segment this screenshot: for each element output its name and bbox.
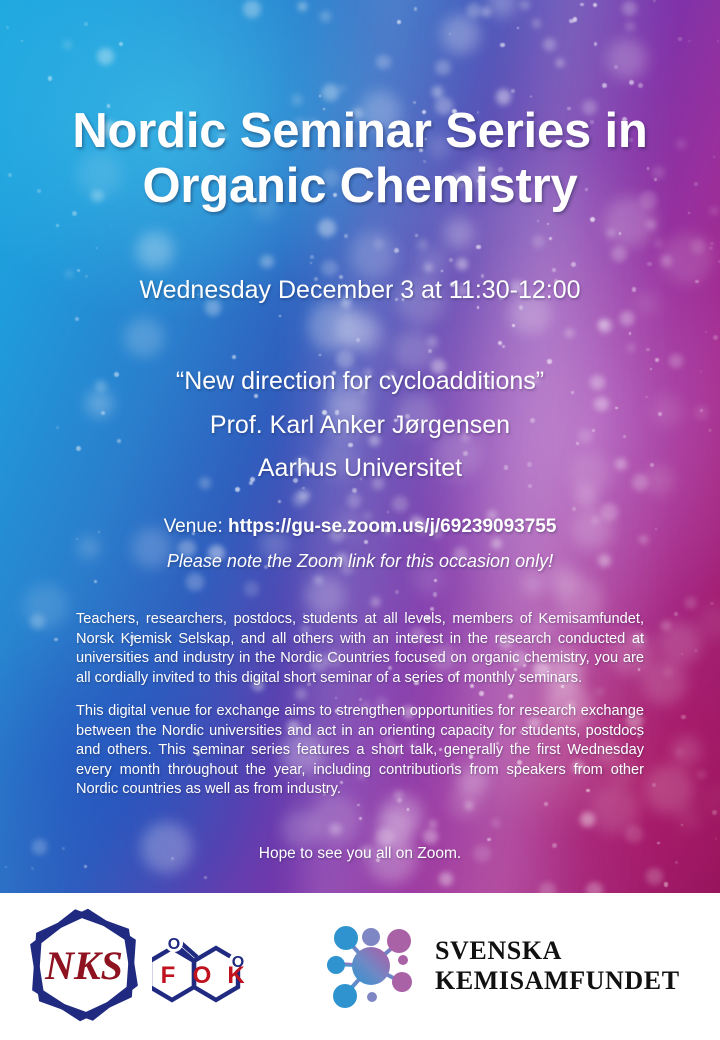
svenska-kemisamfundet-wordmark: SVENSKA KEMISAMFUNDET: [435, 936, 680, 996]
speaker-name: Prof. Karl Anker Jørgensen: [0, 404, 720, 448]
venue-label: Venue:: [164, 516, 223, 537]
seminar-datetime: Wednesday December 3 at 11:30-12:00: [0, 276, 720, 305]
svenska-line-1: SVENSKA: [435, 936, 680, 966]
nks-logo: NKS: [28, 907, 140, 1030]
poster-body: Teachers, researchers, postdocs, student…: [76, 610, 644, 814]
fok-carbonyl-oxygen-label: O: [168, 936, 180, 953]
nks-logo-text: NKS: [44, 943, 123, 988]
footer-logo-bar: NKS O O F: [0, 893, 720, 1040]
fok-logo: O O F O K: [152, 917, 256, 1014]
body-paragraph-2: This digital venue for exchange aims to …: [76, 702, 644, 800]
talk-details: “New direction for cycloadditions” Prof.…: [0, 360, 720, 491]
speaker-affiliation: Aarhus Universitet: [0, 447, 720, 491]
poster-title: Nordic Seminar Series in Organic Chemist…: [0, 104, 720, 214]
svenska-line-2: KEMISAMFUNDET: [435, 966, 680, 996]
closing-line: Hope to see you all on Zoom.: [0, 845, 720, 863]
svenska-kemisamfundet-logo: SVENSKA KEMISAMFUNDET: [325, 920, 680, 1012]
fok-letter-o: O: [193, 962, 212, 989]
talk-title: “New direction for cycloadditions”: [0, 360, 720, 404]
fok-letter-f: F: [161, 962, 176, 989]
venue-zoom-link[interactable]: https://gu-se.zoom.us/j/69239093755: [228, 516, 556, 537]
fok-letter-k: K: [227, 962, 245, 989]
body-paragraph-1: Teachers, researchers, postdocs, student…: [76, 610, 644, 688]
seminar-poster: Nordic Seminar Series in Organic Chemist…: [0, 0, 720, 1040]
nks-hexagon-icon: NKS: [28, 907, 140, 1025]
fok-chromanone-icon: O O F O K: [152, 917, 256, 1009]
venue-note: Please note the Zoom link for this occas…: [0, 551, 720, 572]
venue-line: Venue: https://gu-se.zoom.us/j/692390937…: [0, 516, 720, 538]
poster-content: Nordic Seminar Series in Organic Chemist…: [0, 0, 720, 893]
molecule-network-icon: [325, 920, 417, 1012]
